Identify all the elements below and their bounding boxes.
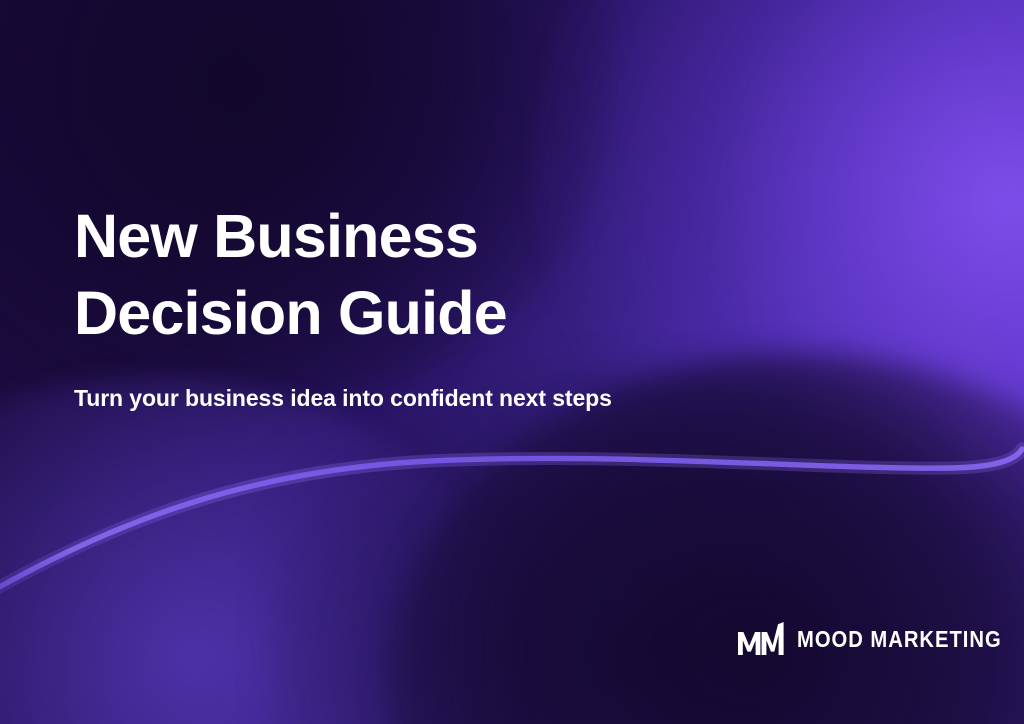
cover-slide: New Business Decision Guide Turn your bu… — [0, 0, 1024, 724]
page-subtitle: Turn your business idea into confident n… — [74, 384, 774, 414]
mood-marketing-mm-icon — [738, 622, 784, 656]
cover-text-block: New Business Decision Guide Turn your bu… — [74, 198, 774, 414]
page-title: New Business Decision Guide — [74, 198, 774, 352]
brand-logo: MOOD MARKETING — [738, 622, 1024, 656]
brand-wordmark: MOOD MARKETING — [797, 628, 1002, 651]
